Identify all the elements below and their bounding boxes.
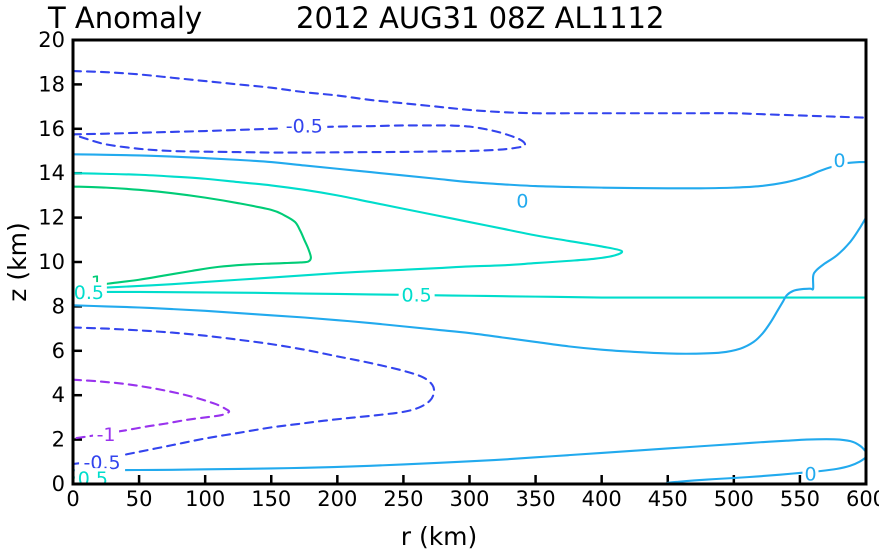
y-tick-label: 2: [52, 428, 65, 452]
contour-inline-label: 0: [804, 464, 816, 486]
contour-inline-label: 0: [516, 191, 528, 213]
x-tick-label: 100: [185, 487, 225, 511]
contour-inline-label: 0.5: [78, 468, 108, 490]
y-tick-label: 6: [52, 339, 65, 363]
x-tick-label: 500: [714, 487, 754, 511]
plot-title-left: T Anomaly: [47, 1, 202, 35]
y-tick-label: 16: [38, 117, 65, 141]
contour-inline-label: 0: [834, 150, 846, 172]
x-tick-label: 250: [383, 487, 423, 511]
y-tick-label: 8: [52, 294, 65, 318]
contour-inline-label: -0.5: [286, 116, 323, 138]
x-tick-label: 150: [251, 487, 291, 511]
x-axis-label: r (km): [401, 522, 478, 551]
y-tick-label: 18: [38, 72, 65, 96]
contour-inline-label: 0.5: [74, 282, 104, 304]
x-tick-label: 400: [582, 487, 622, 511]
contour-inline-label: -1: [97, 424, 116, 446]
contour-inline-label: 0.5: [402, 284, 432, 306]
x-tick-label: 200: [317, 487, 357, 511]
x-tick-label: 350: [516, 487, 556, 511]
x-tick-label: 450: [648, 487, 688, 511]
x-tick-label: 550: [780, 487, 820, 511]
y-tick-label: 12: [38, 206, 65, 230]
x-tick-label: 600: [846, 487, 879, 511]
contour-plot-figure: T Anomaly 2012 AUG31 08Z AL1112 05010015…: [0, 0, 879, 559]
x-tick-label: 0: [66, 487, 79, 511]
plot-title-right: 2012 AUG31 08Z AL1112: [296, 1, 664, 35]
x-tick-label: 50: [126, 487, 153, 511]
y-tick-label: 10: [38, 250, 65, 274]
y-tick-label: 20: [38, 28, 65, 52]
y-tick-label: 14: [38, 161, 65, 185]
y-axis-label: z (km): [3, 222, 32, 301]
y-tick-label: 0: [52, 472, 65, 496]
y-tick-label: 4: [52, 383, 65, 407]
x-tick-label: 300: [449, 487, 489, 511]
figure-background: [0, 0, 879, 559]
